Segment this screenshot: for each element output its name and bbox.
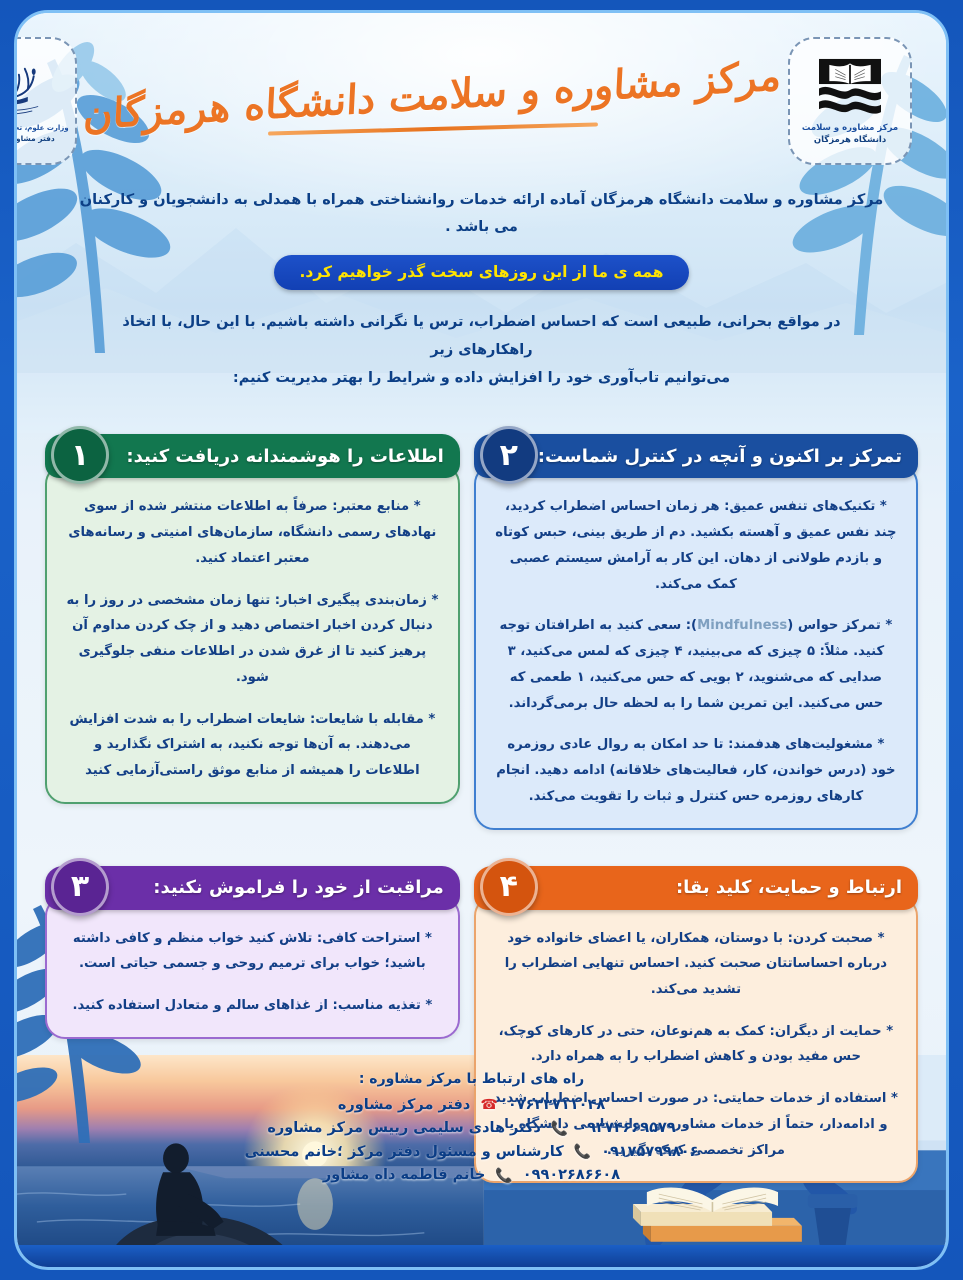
contact-role: دکتر هادی سلیمی رییس مرکز مشاوره	[267, 1117, 541, 1140]
tip-item: * تمرکز حواس (Mindfulness): سعی کنید به …	[494, 613, 898, 716]
tip-card-number-badge: ۱	[51, 426, 109, 484]
left-logo-caption-1: مرکز مشاوره و سلامت	[802, 122, 898, 134]
right-logo-caption-2: دفتر مشاوره و سلامت	[14, 134, 69, 145]
intro-block: مرکز مشاوره و سلامت دانشگاه هرمزگان آماد…	[17, 183, 946, 392]
intro-para-line-2: می‌توانیم تاب‌آوری خود را افزایش داده و …	[83, 364, 880, 392]
contact-number[interactable]: ۰۹۳۷۴۶۶۹۵۷۹	[578, 1117, 675, 1140]
tip-card-title: مراقبت از خود را فراموش نکنید:	[153, 877, 444, 898]
tip-card-header: ۲تمرکز بر اکنون و آنچه در کنترل شماست:	[474, 434, 918, 478]
tip-item: * تکنیک‌های تنفس عمیق: هر زمان احساس اضط…	[494, 494, 898, 597]
poster-footer: راه های ارتباط با مرکز مشاوره : ۰۷۶۳۳۷۱۱…	[17, 1055, 946, 1267]
tip-item: * استراحت کافی: تلاش کنید خواب منظم و کا…	[65, 926, 440, 977]
tip-card-۱: ۱اطلاعات را هوشمندانه دریافت کنید:* مناب…	[45, 412, 460, 829]
tip-card-title: ارتباط و حمایت، کلید بقا:	[676, 877, 902, 898]
contact-row: ۰۹۱۷۵۷۹۹۸۰۶📞کارشناس و مسئول دفتر مرکز ؛خ…	[17, 1141, 926, 1164]
poster-frame: مرکز مشاوره و سلامت دانشگاه هرمزگان مرکز…	[14, 10, 949, 1270]
contact-role: کارشناس و مسئول دفتر مرکز ؛خانم محسنی	[245, 1141, 564, 1164]
contact-row: ۰۷۶۳۳۷۱۱۰۴۸☎دفتر مرکز مشاوره	[17, 1094, 926, 1117]
telephone-icon: ☎	[480, 1094, 497, 1117]
counseling-center-logo: مرکز مشاوره و سلامت دانشگاه هرمزگان	[788, 37, 912, 165]
tip-card-۲: ۲تمرکز بر اکنون و آنچه در کنترل شماست:* …	[474, 412, 918, 829]
tip-card-body: * تکنیک‌های تنفس عمیق: هر زمان احساس اضط…	[474, 464, 918, 829]
poster-root: مرکز مشاوره و سلامت دانشگاه هرمزگان مرکز…	[0, 0, 963, 1280]
right-logo-caption-1: وزارت علوم، تحقیقات و فناوری	[14, 123, 69, 133]
title-block: مرکز مشاوره و سلامت دانشگاه هرمزگان	[77, 71, 788, 131]
open-book-waves-icon	[813, 56, 887, 118]
left-logo-caption-2: دانشگاه هرمزگان	[802, 134, 898, 146]
tip-card-header: ۳مراقبت از خود را فراموش نکنید:	[45, 866, 460, 910]
tip-item: * مشغولیت‌های هدفمند: تا حد امکان به روا…	[494, 732, 898, 809]
tip-card-number-badge: ۴	[480, 858, 538, 916]
tip-card-header: ۴ارتباط و حمایت، کلید بقا:	[474, 866, 918, 910]
contact-row: ۰۹۹۰۲۶۸۶۶۰۸📞خانم فاطمه داه مشاور	[17, 1164, 926, 1187]
tip-card-header: ۱اطلاعات را هوشمندانه دریافت کنید:	[45, 434, 460, 478]
tip-card-title: اطلاعات را هوشمندانه دریافت کنید:	[126, 446, 443, 467]
mindfulness-term: Mindfulness	[697, 618, 787, 633]
contact-block: راه های ارتباط با مرکز مشاوره : ۰۷۶۳۳۷۱۱…	[17, 1071, 946, 1188]
footer-strip	[17, 1245, 946, 1267]
tip-item: * مقابله با شایعات: شایعات اضطراب را به …	[65, 707, 440, 784]
contact-role: دفتر مرکز مشاوره	[338, 1094, 471, 1117]
tip-item: * صحبت کردن: با دوستان، همکاران، یا اعضا…	[494, 926, 898, 1003]
contact-row: ۰۹۳۷۴۶۶۹۵۷۹📞دکتر هادی سلیمی رییس مرکز مش…	[17, 1117, 926, 1140]
tip-card-title: تمرکز بر اکنون و آنچه در کنترل شماست:	[538, 446, 902, 467]
highlight-banner: همه ی ما از این روزهای سخت گذر خواهیم کر…	[274, 255, 690, 290]
tip-item: * تغذیه مناسب: از غذاهای سالم و متعادل ا…	[65, 993, 440, 1019]
contact-role: خانم فاطمه داه مشاور	[323, 1164, 485, 1187]
intro-para-line-1: در مواقع بحرانی، طبیعی است که احساس اضطر…	[83, 308, 880, 365]
calligraphic-seal-icon	[14, 57, 50, 119]
tip-item: * منابع معتبر: صرفاً به اطلاعات منتشر شد…	[65, 494, 440, 571]
ministry-student-affairs-seal: وزارت علوم، تحقیقات و فناوری دفتر مشاوره…	[14, 37, 77, 165]
mobile-phone-icon: 📞	[495, 1165, 512, 1188]
intro-line-1: مرکز مشاوره و سلامت دانشگاه هرمزگان آماد…	[73, 187, 890, 241]
tip-card-body: * منابع معتبر: صرفاً به اطلاعات منتشر شد…	[45, 464, 460, 803]
mobile-phone-icon: 📞	[551, 1118, 568, 1141]
tip-card-number-badge: ۳	[51, 858, 109, 916]
tip-item: * حمایت از دیگران: کمک به هم‌نوعان، حتی …	[494, 1019, 898, 1070]
contact-number[interactable]: ۰۹۱۷۵۷۹۹۸۰۶	[601, 1141, 698, 1164]
contact-number[interactable]: ۰۹۹۰۲۶۸۶۶۰۸	[523, 1164, 620, 1187]
contact-title: راه های ارتباط با مرکز مشاوره :	[17, 1071, 926, 1087]
tip-card-body: * استراحت کافی: تلاش کنید خواب منظم و کا…	[45, 896, 460, 1039]
tip-item: * زمان‌بندی پیگیری اخبار: تنها زمان مشخص…	[65, 588, 440, 691]
poster-header: مرکز مشاوره و سلامت دانشگاه هرمزگان مرکز…	[17, 13, 946, 183]
contact-number[interactable]: ۰۷۶۳۳۷۱۱۰۴۸	[508, 1094, 605, 1117]
tip-card-number-badge: ۲	[480, 426, 538, 484]
mobile-phone-icon: 📞	[574, 1141, 591, 1164]
